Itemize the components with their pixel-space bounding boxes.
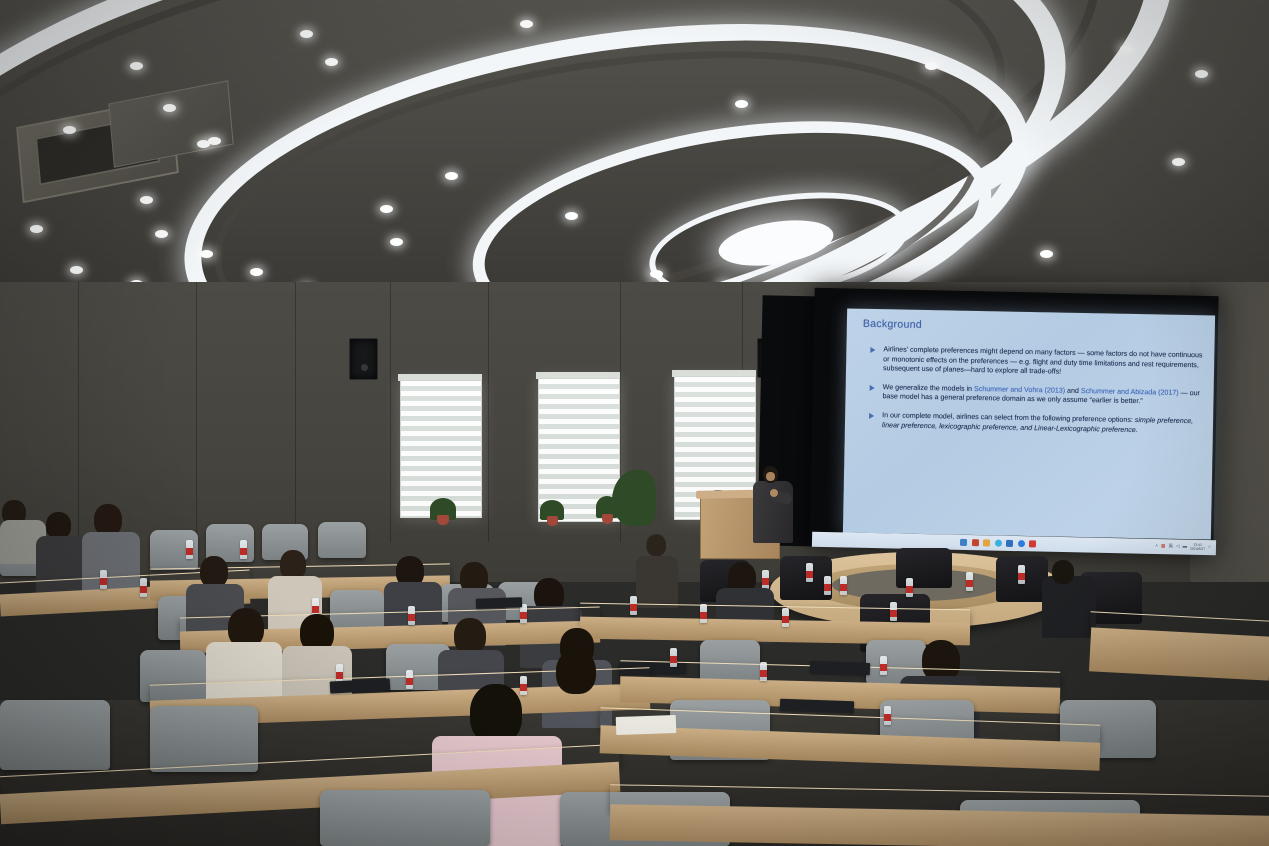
network-icon[interactable]: ▦ (1161, 544, 1165, 549)
citation-schummer-abizada[interactable]: Schummer and Abizada (2017) (1081, 387, 1179, 397)
downlight (200, 250, 213, 258)
lecture-hall-photo: Background Airlines' complete preference… (0, 0, 1269, 846)
water-bottle (806, 563, 813, 582)
folder-icon[interactable] (983, 539, 990, 546)
downlight (163, 104, 176, 112)
notebook (616, 715, 677, 735)
presentation-slide[interactable]: Background Airlines' complete preference… (843, 308, 1215, 539)
citation-schummer-vohra[interactable]: Schummer and Vohra (2013) (974, 385, 1065, 395)
plant-pot (602, 514, 613, 524)
water-bottle (840, 576, 847, 595)
downlight (300, 30, 313, 38)
taskbar-app-icons (960, 539, 1036, 548)
attendee-body (636, 556, 678, 608)
presenter-face (766, 472, 775, 481)
plant-pot (547, 516, 558, 526)
bullet-1-text: Airlines' complete preferences might dep… (883, 345, 1203, 376)
downlight (735, 100, 748, 108)
water-bottle (966, 572, 973, 591)
audience-chair (150, 706, 258, 772)
attendee-head (647, 535, 666, 556)
downlight (30, 225, 43, 233)
notification-icon[interactable]: ○ (1208, 545, 1211, 550)
large-potted-plant (612, 470, 656, 526)
downlight (140, 196, 153, 204)
attendee-head (470, 684, 522, 744)
water-bottle (760, 662, 767, 681)
bullet-2-and: and (1065, 386, 1081, 394)
laptop (476, 597, 522, 609)
water-bottle (186, 540, 193, 559)
water-bottle (520, 676, 527, 695)
battery-icon[interactable]: ▬ (1182, 545, 1187, 550)
water-bottle (630, 596, 637, 615)
water-bottle (240, 540, 247, 559)
downlight (63, 126, 76, 134)
laptop (810, 661, 870, 675)
attendee-head (556, 650, 596, 694)
presenter-hand (770, 489, 778, 497)
slide-title: Background (863, 318, 922, 331)
wall-panel-seam (390, 282, 391, 542)
audience-chair (318, 522, 366, 558)
water-bottle (100, 570, 107, 589)
water-bottle (1018, 565, 1025, 584)
clock-date: 2024/6/27 (1190, 547, 1205, 551)
slide-bullet-3: In our complete model, airlines can sele… (869, 411, 1203, 437)
water-bottle (782, 608, 789, 627)
slide-bullet-2: We generalize the models in Schummer and… (869, 383, 1203, 409)
downlight (208, 137, 221, 145)
system-tray: ˄ ▦ 英 ◁ ▬ 13:41 2024/6/27 ○ (1155, 543, 1211, 552)
browser-icon-2[interactable] (1017, 540, 1024, 547)
downlight (565, 212, 578, 220)
water-bottle (824, 576, 831, 595)
water-bottle (670, 648, 677, 667)
audience-desk-front (1089, 627, 1269, 680)
downlight (1040, 250, 1053, 258)
downlight (380, 205, 393, 213)
downlight (1120, 45, 1133, 53)
downlight (325, 58, 338, 66)
plant-pot (437, 515, 449, 525)
attendee-head (1052, 560, 1074, 584)
slide-body: Airlines' complete preferences might dep… (869, 345, 1205, 446)
water-bottle (884, 706, 891, 725)
taskbar-clock[interactable]: 13:41 2024/6/27 (1190, 543, 1205, 551)
wall-panel-seam (78, 282, 79, 542)
downlight (70, 266, 83, 274)
app-icon-wechat[interactable] (1029, 540, 1036, 547)
water-bottle (140, 578, 147, 597)
bullet-triangle-icon (870, 347, 875, 353)
water-bottle (906, 578, 913, 597)
downlight (390, 238, 403, 246)
water-bottle (762, 570, 769, 589)
ime-indicator[interactable]: 英 (1168, 544, 1173, 549)
attendee-head (46, 512, 71, 539)
chevron-up-icon[interactable]: ˄ (1155, 544, 1158, 549)
downlight (1172, 158, 1185, 166)
downlight (650, 270, 663, 278)
bullet-triangle-icon (870, 385, 875, 391)
wall-panel-seam (196, 282, 197, 542)
downlight (925, 62, 938, 70)
audience-chair (320, 790, 490, 846)
app-icon-blue-square[interactable] (1006, 540, 1013, 547)
water-bottle (406, 670, 413, 689)
bullet-2-lead: We generalize the models in (883, 383, 974, 393)
executive-chair (896, 548, 952, 588)
audience-chair (0, 700, 110, 770)
downlight (155, 230, 168, 238)
ceiling (0, 0, 1269, 300)
attendee-head (454, 618, 486, 654)
app-icon-red[interactable] (971, 539, 978, 546)
water-bottle (408, 606, 415, 625)
downlight (445, 172, 458, 180)
wall-panel-seam (488, 282, 489, 542)
water-bottle (890, 602, 897, 621)
file-explorer-icon[interactable] (960, 539, 967, 546)
downlight (250, 268, 263, 276)
wall-panel-seam (295, 282, 296, 542)
downlight (520, 20, 533, 28)
attendee-body (1042, 576, 1096, 638)
downlight (1195, 70, 1208, 78)
bullet-triangle-icon (869, 413, 874, 419)
water-bottle (700, 604, 707, 623)
slide-bullet-1: Airlines' complete preferences might dep… (870, 345, 1204, 380)
wall-speaker-left-icon (349, 338, 378, 380)
water-bottle (880, 656, 887, 675)
volume-icon[interactable]: ◁ (1176, 545, 1180, 550)
laptop (780, 699, 854, 714)
browser-icon[interactable] (994, 540, 1001, 547)
downlight (130, 62, 143, 70)
